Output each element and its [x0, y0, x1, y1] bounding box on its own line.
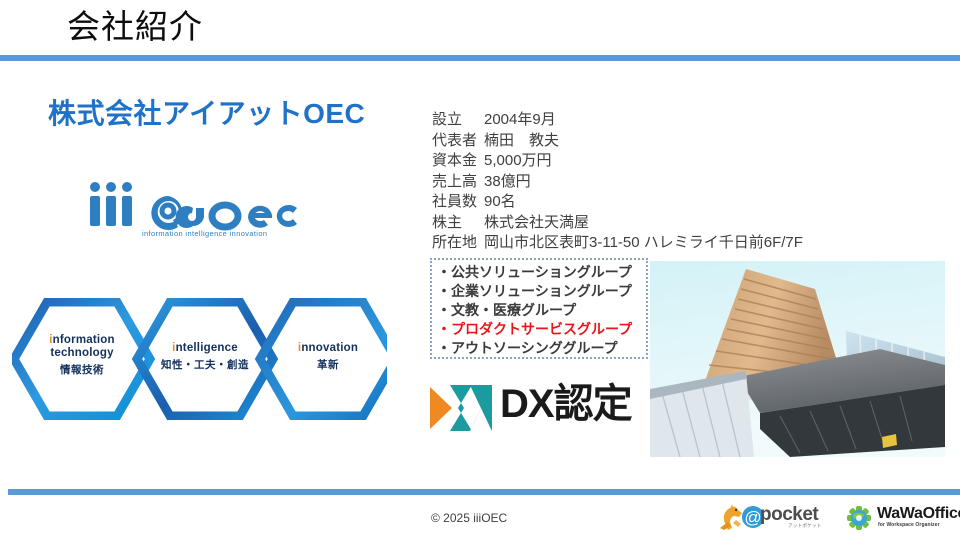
hexagon-label-information-technology: information technology 情報技術 [26, 334, 138, 377]
business-group-list: ・公共ソリューショングループ ・企業ソリューショングループ ・文教・医療グループ… [430, 258, 648, 359]
iiioec-logo-tagline: information intelligence innovation [142, 229, 267, 238]
group-list-item: ・公共ソリューショングループ [437, 263, 646, 282]
copyright-text: © 2025 iiiOEC [431, 511, 507, 525]
hexagon-1-word: nformation [53, 334, 115, 346]
slide-canvas: 会社紹介 株式会社アイアットOEC [0, 0, 960, 540]
brand-wawaoffice-word: WaWaOffice [877, 504, 960, 523]
brand-logo-wawaoffice: WaWaOffice for Workspace Organizer [845, 503, 955, 532]
hexagon-label-intelligence: intelligence 知性・工夫・創造 [148, 342, 262, 371]
page-title: 会社紹介 [67, 4, 203, 50]
fact-row: 売上高38億円 [432, 172, 803, 193]
group-list-item: ・アウトソーシンググループ [437, 339, 646, 358]
hexagon-1-word-line2: technology [26, 347, 138, 360]
iiioec-logo: information intelligence innovation [85, 178, 300, 240]
fact-row: 所在地岡山市北区表町3-11-50 ハレミライ千日前6F/7F [432, 233, 803, 254]
hexagon-1-jp: 情報技術 [26, 364, 138, 376]
brand-wawaoffice-subtitle: for Workspace Organizer [878, 522, 940, 528]
fact-value: 岡山市北区表町3-11-50 ハレミライ千日前6F/7F [484, 234, 803, 251]
hexagon-2-word: ntelligence [176, 342, 238, 354]
hexagon-3-word: nnovation [301, 342, 358, 354]
fact-row: 代表者楠田 教夫 [432, 131, 803, 152]
fact-key: 株主 [432, 213, 484, 234]
fact-value: 2004年9月 [484, 111, 556, 128]
brand-pocket-subtitle: アットポケット [788, 523, 822, 529]
fact-value: 38億円 [484, 173, 531, 190]
fact-value: 5,000万円 [484, 152, 552, 169]
group-list-item: ・企業ソリューショングループ [437, 282, 646, 301]
hexagon-2-jp: 知性・工夫・創造 [148, 359, 262, 371]
dx-certification-badge: DX認定 [428, 375, 648, 437]
fact-row: 社員数90名 [432, 192, 803, 213]
fact-row: 資本金5,000万円 [432, 151, 803, 172]
fact-value: 楠田 教夫 [484, 132, 559, 149]
building-photo [650, 261, 945, 457]
hexagon-label-innovation: innovation 革新 [272, 342, 384, 371]
hexagon-3-jp: 革新 [272, 359, 384, 371]
brand-logo-pocket: @ pocket アットポケット [716, 502, 828, 532]
fact-key: 社員数 [432, 192, 484, 213]
fact-value: 株式会社天満屋 [484, 214, 589, 231]
fact-value: 90名 [484, 193, 516, 210]
dx-certification-text: DX認定 [500, 378, 632, 430]
fact-key: 代表者 [432, 131, 484, 152]
gear-globe-icon [845, 504, 873, 532]
fact-key: 設立 [432, 110, 484, 131]
dx-mark-icon [428, 377, 494, 439]
fact-key: 資本金 [432, 151, 484, 172]
fact-row: 設立2004年9月 [432, 110, 803, 131]
company-name: 株式会社アイアットOEC [48, 92, 365, 132]
hexagon-diagram: information technology 情報技術 intelligence… [12, 298, 387, 420]
company-facts: 設立2004年9月 代表者楠田 教夫 資本金5,000万円 売上高38億円 社員… [432, 110, 803, 254]
fact-key: 所在地 [432, 233, 484, 254]
group-list-item-highlighted: ・プロダクトサービスグループ [437, 320, 646, 339]
fact-key: 売上高 [432, 172, 484, 193]
fact-row: 株主株式会社天満屋 [432, 213, 803, 234]
header-divider [0, 55, 960, 61]
group-list-item: ・文教・医療グループ [437, 301, 646, 320]
footer-divider [8, 489, 960, 495]
